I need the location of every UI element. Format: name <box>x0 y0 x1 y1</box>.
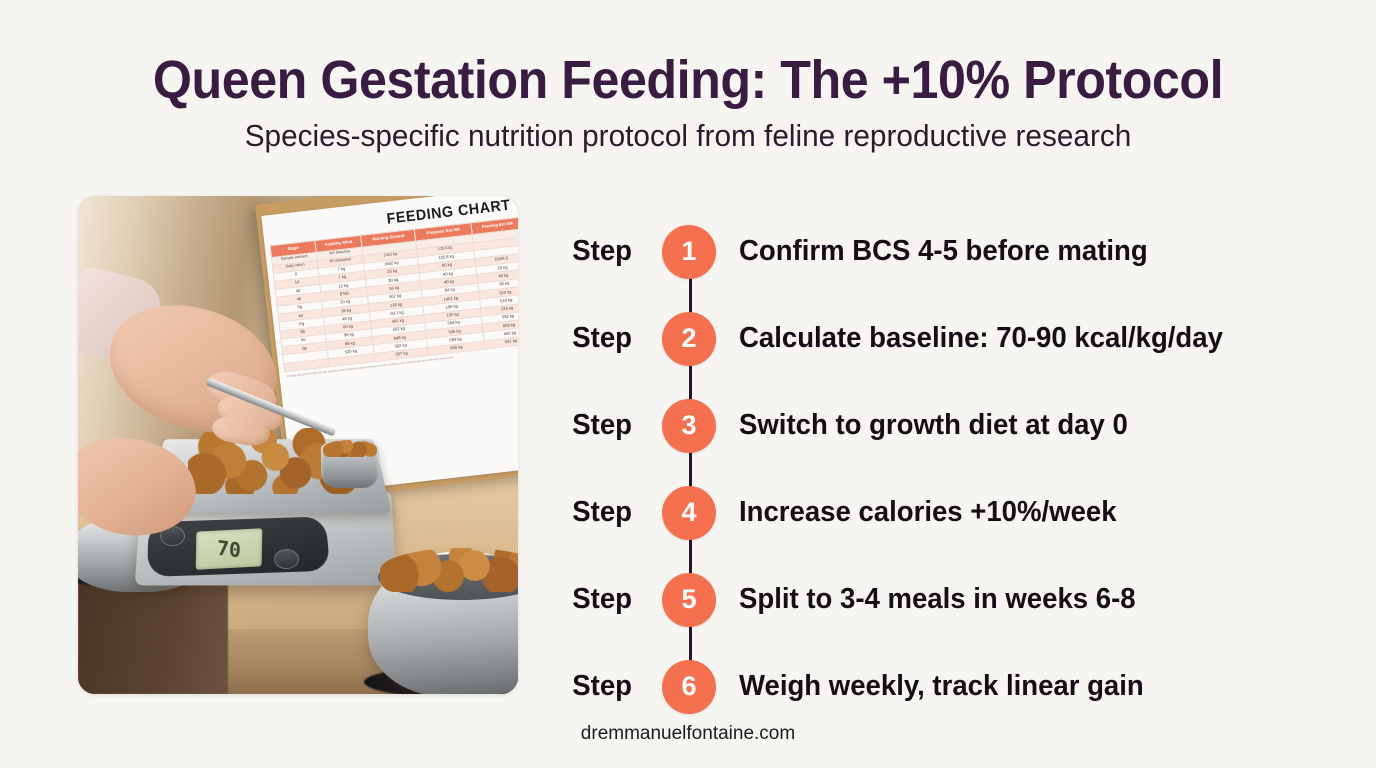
step-description: Switch to growth diet at day 0 <box>739 409 1128 442</box>
infographic-header: Queen Gestation Feeding: The +10% Protoc… <box>0 0 1376 154</box>
step-label: Step <box>572 670 659 703</box>
step-number-badge: 4 <box>662 486 716 540</box>
step-description: Increase calories +10%/week <box>739 496 1117 529</box>
step-number-badge: 1 <box>662 225 716 279</box>
step-description: Confirm BCS 4-5 before mating <box>739 235 1148 268</box>
footer-attribution: dremmanuelfontaine.com <box>0 723 1376 745</box>
measuring-spoon-kibble <box>323 440 377 457</box>
step-description: Split to 3-4 meals in weeks 6-8 <box>739 583 1136 616</box>
protocol-step-list: Step 1 Confirm BCS 4-5 before mating Ste… <box>570 196 1376 730</box>
step-label: Step <box>572 235 659 268</box>
scale-unit-button[interactable] <box>274 549 299 569</box>
page-title: Queen Gestation Feeding: The +10% Protoc… <box>48 52 1328 109</box>
scale-weight-value: 70 <box>195 526 262 572</box>
step-label: Step <box>572 583 659 616</box>
feeding-photo: FEEDING CHART Stage Feeding What Nursing… <box>78 196 518 694</box>
page-subtitle: Species-specific nutrition protocol from… <box>28 117 1349 154</box>
step-number-badge: 2 <box>662 312 716 366</box>
right-bowl-kibble <box>380 548 518 592</box>
step-label: Step <box>572 322 659 355</box>
content-area: FEEDING CHART Stage Feeding What Nursing… <box>0 196 1376 696</box>
step-number-badge: 6 <box>662 660 716 714</box>
step-label: Step <box>572 409 659 442</box>
photo-panel: FEEDING CHART Stage Feeding What Nursing… <box>78 196 518 694</box>
step-label: Step <box>572 496 659 529</box>
step-description: Weigh weekly, track linear gain <box>739 670 1144 703</box>
step-description: Calculate baseline: 70-90 kcal/kg/day <box>739 322 1223 355</box>
step-number-badge: 3 <box>662 399 716 453</box>
step-number-badge: 5 <box>662 573 716 627</box>
scale-lcd-display: 70 <box>196 528 263 570</box>
